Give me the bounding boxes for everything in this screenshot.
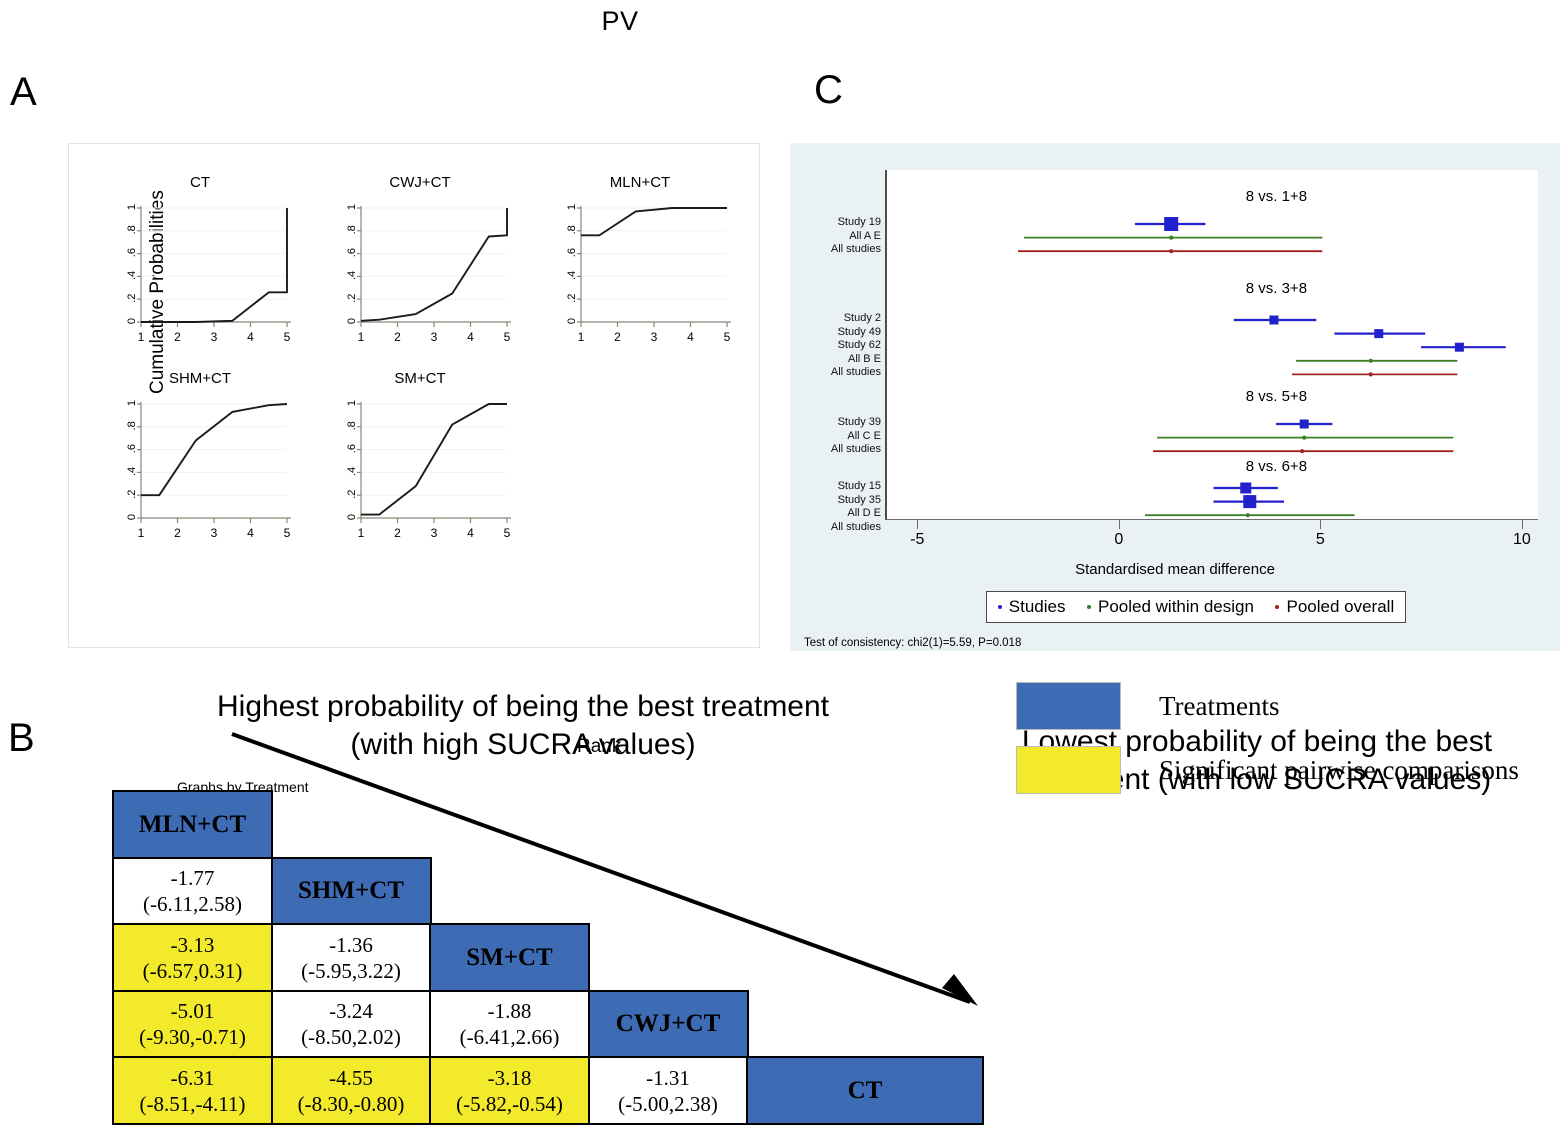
svg-text:3: 3 (431, 526, 438, 540)
forest-row-label: Study 49 (831, 326, 881, 340)
league-cell-ci: (-8.51,-4.11) (140, 1091, 246, 1117)
subplot-title-ct: CT (107, 174, 293, 191)
key-row-treatments: Treatments (1016, 682, 1519, 730)
svg-text:.8: .8 (566, 225, 578, 234)
svg-text:3: 3 (211, 330, 218, 344)
panel-b-league-table: MLN+CT-1.77(-6.11,2.58)SHM+CT-3.13(-6.57… (112, 790, 982, 1123)
svg-text:1: 1 (126, 400, 138, 406)
figure-title: PV (0, 6, 1240, 37)
svg-text:.2: .2 (566, 294, 578, 303)
league-cell-ci: (-6.41,2.66) (460, 1024, 560, 1050)
forest-row-label: All studies (831, 366, 881, 380)
svg-text:2: 2 (174, 330, 181, 344)
svg-text:.6: .6 (126, 444, 138, 453)
forest-group-row-labels: Study 19All A EAll studies (831, 216, 881, 257)
svg-text:5: 5 (724, 330, 731, 344)
forest-x-axis-label: Standardised mean difference (790, 561, 1560, 578)
league-cell-estimate: -6.31 (171, 1065, 215, 1091)
svg-text:.2: .2 (346, 294, 358, 303)
forest-legend-item: Pooled within design (1087, 597, 1254, 617)
forest-legend-item: Pooled overall (1275, 597, 1394, 617)
league-cell-ci: (-5.95,3.22) (301, 958, 401, 984)
forest-row-label: Study 15 (831, 480, 881, 494)
svg-text:5: 5 (504, 330, 511, 344)
forest-plot-area (885, 170, 1538, 520)
league-table-treatment-header: SHM+CT (271, 857, 432, 926)
forest-row-label: All studies (831, 443, 881, 457)
annotation-high-line1: Highest probability of being the best tr… (128, 688, 918, 726)
league-table-row: MLN+CT (112, 790, 982, 857)
league-cell-estimate: -5.01 (171, 998, 215, 1024)
league-table-cell: -3.24(-8.50,2.02) (271, 990, 432, 1059)
svg-text:1: 1 (358, 526, 365, 540)
league-cell-ci: (-6.57,0.31) (143, 958, 243, 984)
forest-row-label: Study 35 (831, 494, 881, 508)
svg-text:.2: .2 (346, 490, 358, 499)
svg-text:1: 1 (566, 204, 578, 210)
forest-row-label: All D E (831, 507, 881, 521)
treatments-color-swatch (1016, 682, 1121, 730)
forest-plot-svg (887, 170, 1540, 520)
svg-text:.4: .4 (346, 271, 358, 280)
svg-text:2: 2 (174, 526, 181, 540)
subplot-sm-ct: 0.2.4.6.8112345 (327, 392, 513, 552)
forest-x-tick-label: -5 (910, 531, 924, 549)
legend-dot-icon (998, 605, 1002, 609)
forest-row-label: All A E (831, 230, 881, 244)
svg-text:.8: .8 (126, 421, 138, 430)
svg-text:0: 0 (126, 318, 138, 324)
league-table-cell: -1.36(-5.95,3.22) (271, 923, 432, 992)
forest-group-row-labels: Study 15Study 35All D EAll studies (831, 480, 881, 534)
svg-text:1: 1 (578, 330, 585, 344)
significant-key-label: Significant pairwise comparisons (1159, 755, 1519, 786)
svg-text:4: 4 (467, 526, 474, 540)
svg-text:2: 2 (614, 330, 621, 344)
forest-row-label: All B E (831, 353, 881, 367)
svg-text:4: 4 (467, 330, 474, 344)
panel-c-forest-plot: 8 vs. 1+8Study 19All A EAll studies8 vs.… (790, 143, 1560, 651)
key-row-significant: Significant pairwise comparisons (1016, 746, 1519, 794)
league-cell-estimate: -3.18 (488, 1065, 532, 1091)
svg-text:.6: .6 (346, 248, 358, 257)
svg-text:4: 4 (687, 330, 694, 344)
svg-text:5: 5 (284, 526, 291, 540)
consistency-test-note: Test of consistency: chi2(1)=5.59, P=0.0… (804, 637, 1021, 649)
league-cell-estimate: -3.13 (171, 932, 215, 958)
svg-text:4: 4 (247, 526, 254, 540)
svg-text:.4: .4 (566, 271, 578, 280)
svg-text:.8: .8 (126, 225, 138, 234)
subplot-cwj-ct: 0.2.4.6.8112345 (327, 196, 513, 356)
league-table-row: -1.77(-6.11,2.58)SHM+CT (112, 857, 982, 924)
forest-x-tick (1320, 520, 1321, 529)
subplot-shm-ct: 0.2.4.6.8112345 (107, 392, 293, 552)
svg-text:3: 3 (651, 330, 658, 344)
league-cell-estimate: -1.31 (646, 1065, 690, 1091)
league-cell-ci: (-8.30,-0.80) (298, 1091, 405, 1117)
league-table-treatment-header: CT (746, 1056, 984, 1125)
svg-text:1: 1 (138, 526, 145, 540)
forest-row-label: Study 39 (831, 416, 881, 430)
league-table-row: -5.01(-9.30,-0.71)-3.24(-8.50,2.02)-1.88… (112, 990, 982, 1057)
league-table-cell-significant: -5.01(-9.30,-0.71) (112, 990, 273, 1059)
forest-row-label: Study 19 (831, 216, 881, 230)
forest-row-label: Study 62 (831, 339, 881, 353)
league-table-treatment-header: MLN+CT (112, 790, 273, 859)
league-cell-ci: (-6.11,2.58) (143, 891, 242, 917)
svg-text:0: 0 (346, 318, 358, 324)
league-cell-estimate: -1.77 (171, 865, 215, 891)
forest-x-axis: -50510 (885, 520, 1538, 560)
legend-label: Studies (1009, 597, 1066, 617)
league-table-cell-significant: -3.18(-5.82,-0.54) (429, 1056, 590, 1125)
svg-text:.6: .6 (126, 248, 138, 257)
legend-label: Pooled overall (1286, 597, 1394, 617)
forest-x-tick (1522, 520, 1523, 529)
subplot-title-sm-ct: SM+CT (327, 370, 513, 387)
forest-group-header: 8 vs. 1+8 (1246, 188, 1307, 205)
svg-text:.2: .2 (126, 490, 138, 499)
forest-row-label: All studies (831, 243, 881, 257)
forest-x-tick-label: 10 (1513, 531, 1531, 549)
panel-label-c: C (814, 70, 843, 110)
subplot-title-shm-ct: SHM+CT (107, 370, 293, 387)
legend-dot-icon (1275, 605, 1279, 609)
league-cell-estimate: -4.55 (329, 1065, 373, 1091)
svg-text:.8: .8 (346, 421, 358, 430)
significant-color-swatch (1016, 746, 1121, 794)
svg-text:1: 1 (138, 330, 145, 344)
svg-text:.6: .6 (346, 444, 358, 453)
legend-dot-icon (1087, 605, 1091, 609)
color-key: Treatments Significant pairwise comparis… (1016, 682, 1519, 810)
forest-row-label: All studies (831, 521, 881, 535)
svg-text:2: 2 (394, 330, 401, 344)
legend-label: Pooled within design (1098, 597, 1254, 617)
svg-text:3: 3 (431, 330, 438, 344)
svg-text:0: 0 (126, 514, 138, 520)
league-cell-estimate: -1.36 (329, 932, 373, 958)
forest-group-row-labels: Study 39All C EAll studies (831, 416, 881, 457)
league-cell-estimate: -1.88 (488, 998, 532, 1024)
forest-row-label: All C E (831, 430, 881, 444)
svg-text:.4: .4 (126, 271, 138, 280)
league-cell-ci: (-5.00,2.38) (618, 1091, 718, 1117)
svg-text:2: 2 (394, 526, 401, 540)
league-table-cell: -1.31(-5.00,2.38) (588, 1056, 749, 1125)
svg-text:4: 4 (247, 330, 254, 344)
forest-group-header: 8 vs. 6+8 (1246, 458, 1307, 475)
svg-text:3: 3 (211, 526, 218, 540)
svg-text:1: 1 (358, 330, 365, 344)
svg-text:1: 1 (126, 204, 138, 210)
svg-text:5: 5 (284, 330, 291, 344)
subplot-title-cwj-ct: CWJ+CT (327, 174, 513, 191)
svg-text:1: 1 (346, 204, 358, 210)
panel-label-b: B (8, 718, 35, 758)
forest-x-tick-label: 0 (1114, 531, 1123, 549)
league-table-cell: -1.88(-6.41,2.66) (429, 990, 590, 1059)
league-table-treatment-header: SM+CT (429, 923, 590, 992)
league-cell-ci: (-9.30,-0.71) (139, 1024, 246, 1050)
league-table-cell: -1.77(-6.11,2.58) (112, 857, 273, 926)
forest-group-row-labels: Study 2Study 49Study 62All B EAll studie… (831, 312, 881, 380)
league-cell-ci: (-5.82,-0.54) (456, 1091, 563, 1117)
league-table-cell-significant: -6.31(-8.51,-4.11) (112, 1056, 273, 1125)
svg-text:1: 1 (346, 400, 358, 406)
subplot-ct: 0.2.4.6.8112345 (107, 196, 293, 356)
forest-group-header: 8 vs. 5+8 (1246, 388, 1307, 405)
svg-text:.6: .6 (566, 248, 578, 257)
svg-text:5: 5 (504, 526, 511, 540)
svg-text:.4: .4 (346, 467, 358, 476)
forest-group-header: 8 vs. 3+8 (1246, 280, 1307, 297)
league-table-row: -6.31(-8.51,-4.11)-4.55(-8.30,-0.80)-3.1… (112, 1056, 982, 1123)
svg-text:.2: .2 (126, 294, 138, 303)
forest-row-label: Study 2 (831, 312, 881, 326)
treatments-key-label: Treatments (1159, 691, 1280, 722)
forest-x-tick (1119, 520, 1120, 529)
league-cell-estimate: -3.24 (329, 998, 373, 1024)
subplot-mln-ct: 0.2.4.6.8112345 (547, 196, 733, 356)
svg-text:.4: .4 (126, 467, 138, 476)
forest-legend-item: Studies (998, 597, 1066, 617)
league-cell-ci: (-8.50,2.02) (301, 1024, 401, 1050)
svg-text:0: 0 (566, 318, 578, 324)
league-table-treatment-header: CWJ+CT (588, 990, 749, 1059)
forest-x-tick-label: 5 (1316, 531, 1325, 549)
svg-text:.8: .8 (346, 225, 358, 234)
league-table-cell-significant: -4.55(-8.30,-0.80) (271, 1056, 432, 1125)
subplot-title-mln-ct: MLN+CT (547, 174, 733, 191)
league-table-row: -3.13(-6.57,0.31)-1.36(-5.95,3.22)SM+CT (112, 923, 982, 990)
forest-x-tick (917, 520, 918, 529)
panel-a-rankograms: Cumulative Probabilities Rank Graphs by … (68, 143, 760, 648)
league-table-cell-significant: -3.13(-6.57,0.31) (112, 923, 273, 992)
svg-text:0: 0 (346, 514, 358, 520)
forest-legend: StudiesPooled within designPooled overal… (986, 591, 1406, 623)
panel-label-a: A (10, 72, 37, 112)
